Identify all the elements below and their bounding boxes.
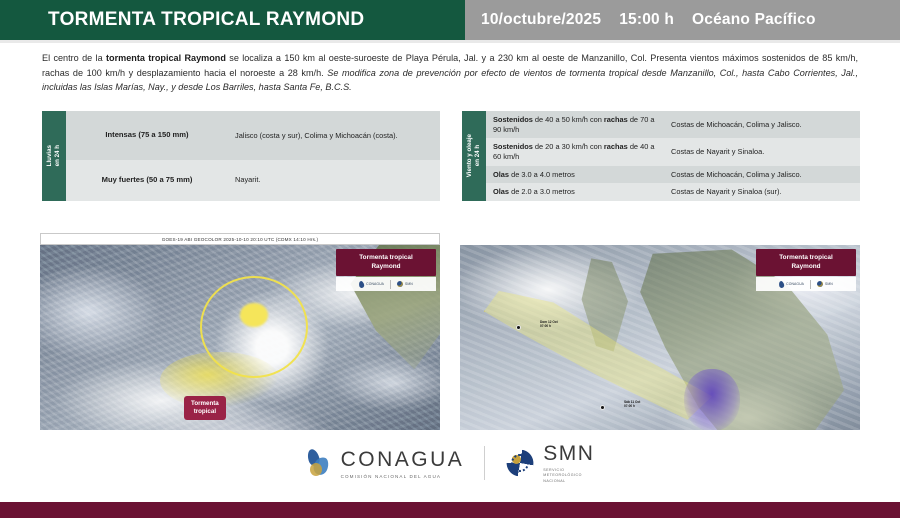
bulletin-page: TORMENTA TROPICAL RAYMOND 10/octubre/202… <box>0 0 900 518</box>
smn-swirl-icon <box>817 281 823 287</box>
satellite-badge-logos: CONAGUA SMN <box>336 277 436 291</box>
drop-shape-3 <box>310 463 322 476</box>
rain-table: Lluvias en 24 h Intensas (75 a 150 mm) J… <box>42 111 440 201</box>
forecast-badge-title: Tormenta tropical <box>759 254 853 263</box>
wave-areas-3: Costas de Nayarit y Sinaloa (sur). <box>664 183 860 201</box>
smn-wordmark: SMN SERVICIO METEOROLÓGICO NACIONAL <box>543 442 594 484</box>
conagua-mini-logo: CONAGUA <box>779 281 804 288</box>
rain-intensity-1: Muy fuertes (50 a 75 mm) <box>66 160 228 201</box>
satellite-badge-title: Tormenta tropical <box>339 254 433 263</box>
header-bar: TORMENTA TROPICAL RAYMOND 10/octubre/202… <box>0 0 900 40</box>
smn-swirl-icon <box>505 448 535 478</box>
conagua-name: CONAGUA <box>341 448 465 472</box>
footer-logos: CONAGUA COMISIÓN NACIONAL DEL AGUA SMN S… <box>0 442 900 484</box>
smn-subtitle: SERVICIO METEOROLÓGICO NACIONAL <box>543 468 594 484</box>
table-row: Sostenidos de 40 a 50 km/h con rachas de… <box>486 111 860 138</box>
footer-divider <box>484 446 485 480</box>
wind-label2-1: rachas <box>604 142 628 151</box>
track-point-label-0: Dom 12 Oct 07:00 h <box>540 320 558 328</box>
wind-areas-1: Costas de Nayarit y Sinaloa. <box>664 138 860 165</box>
smn-mini-label: SMN <box>825 282 833 286</box>
wind-condition-0: Sostenidos de 40 a 50 km/h con rachas de… <box>486 111 664 138</box>
rain-table-vertical-header: Lluvias en 24 h <box>42 111 66 201</box>
wind-wave-table: Viento y oleaje en 24 h Sostenidos de 40… <box>462 111 860 201</box>
wave-areas-2: Costas de Michoacán, Colima y Jalisco. <box>664 166 860 184</box>
rain-areas-0: Jalisco (costa y sur), Colima y Michoacá… <box>228 111 440 160</box>
summary-storm-name: tormenta tropical Raymond <box>106 53 226 63</box>
track-point-0[interactable] <box>516 325 521 330</box>
wave-label-3: Olas <box>493 187 509 196</box>
wind-detail-0: de 40 a 50 km/h con <box>533 115 604 124</box>
header-meta: 10/octubre/2025 15:00 h Océano Pacífico <box>465 0 900 40</box>
smn-mini-label: SMN <box>405 282 413 286</box>
water-drop-icon <box>358 280 364 288</box>
wind-label-1: Sostenidos <box>493 142 533 151</box>
table-row: Olas de 2.0 a 3.0 metros Costas de Nayar… <box>486 183 860 201</box>
water-drop-icon <box>778 280 784 288</box>
conagua-water-drop-icon <box>306 448 332 478</box>
table-row: Intensas (75 a 150 mm) Jalisco (costa y … <box>66 111 440 160</box>
wave-detail-3: de 2.0 a 3.0 metros <box>509 187 575 196</box>
bulletin-time: 15:00 h <box>619 11 674 29</box>
smn-mini-logo: SMN <box>397 281 413 287</box>
smn-swirl-icon <box>397 281 403 287</box>
table-row: Olas de 3.0 a 4.0 metros Costas de Micho… <box>486 166 860 184</box>
satellite-badge-subtitle: Raymond <box>339 263 433 272</box>
wave-condition-2: Olas de 3.0 a 4.0 metros <box>486 166 664 184</box>
page-title: TORMENTA TROPICAL RAYMOND <box>0 0 465 40</box>
summary-paragraph: El centro de la tormenta tropical Raymon… <box>42 51 858 95</box>
storm-eye-ring <box>200 276 308 378</box>
conagua-mini-label: CONAGUA <box>786 282 804 286</box>
track-point-label-1: Sáb 11 Oct 07:00 h <box>624 400 640 408</box>
conagua-wordmark: CONAGUA COMISIÓN NACIONAL DEL AGUA <box>341 448 465 479</box>
wave-condition-3: Olas de 2.0 a 3.0 metros <box>486 183 664 201</box>
wind-table-vertical-header: Viento y oleaje en 24 h <box>462 111 486 201</box>
bottom-accent-bar <box>0 502 900 518</box>
wind-label-0: Sostenidos <box>493 115 533 124</box>
wave-detail-2: de 3.0 a 4.0 metros <box>509 170 575 179</box>
rain-table-vertical-header-label: Lluvias en 24 h <box>46 145 62 166</box>
content-area: El centro de la tormenta tropical Raymon… <box>0 43 900 443</box>
bulletin-date: 10/octubre/2025 <box>481 11 601 29</box>
wind-table-vertical-header-label: Viento y oleaje en 24 h <box>466 134 482 177</box>
wind-table-grid: Sostenidos de 40 a 50 km/h con rachas de… <box>486 111 860 201</box>
wind-detail-1: de 20 a 30 km/h con <box>533 142 604 151</box>
bulletin-basin: Océano Pacífico <box>692 11 816 29</box>
smn-logo: SMN SERVICIO METEOROLÓGICO NACIONAL <box>505 442 594 484</box>
conagua-subtitle: COMISIÓN NACIONAL DEL AGUA <box>341 474 465 479</box>
conagua-mini-logo: CONAGUA <box>359 281 384 288</box>
wind-condition-1: Sostenidos de 20 a 30 km/h con rachas de… <box>486 138 664 165</box>
rain-table-grid: Intensas (75 a 150 mm) Jalisco (costa y … <box>66 111 440 201</box>
satellite-timestamp: GOES-19 ABI GEOCOLOR 2025-10-10 20:10 UT… <box>40 233 440 245</box>
rain-intensity-0: Intensas (75 a 150 mm) <box>66 111 228 160</box>
wind-areas-0: Costas de Michoacán, Colima y Jalisco. <box>664 111 860 138</box>
table-row: Sostenidos de 20 a 30 km/h con rachas de… <box>486 138 860 165</box>
forecast-storm-badge: Tormenta tropical Raymond <box>756 249 856 276</box>
storm-convection-blob <box>684 369 740 431</box>
summary-part1: El centro de la <box>42 53 106 63</box>
satellite-storm-badge: Tormenta tropical Raymond <box>336 249 436 276</box>
track-point-1[interactable] <box>600 405 605 410</box>
forecast-badge-subtitle: Raymond <box>759 263 853 272</box>
wave-label-2: Olas <box>493 170 509 179</box>
conagua-logo: CONAGUA COMISIÓN NACIONAL DEL AGUA <box>306 448 465 479</box>
logo-divider <box>390 280 391 289</box>
forecast-badge-logos: CONAGUA SMN <box>756 277 856 291</box>
table-row: Muy fuertes (50 a 75 mm) Nayarit. <box>66 160 440 201</box>
smn-mini-logo: SMN <box>817 281 833 287</box>
tables-row: Lluvias en 24 h Intensas (75 a 150 mm) J… <box>0 111 900 201</box>
storm-marker-label: Tormenta tropical <box>184 396 226 420</box>
logo-divider <box>810 280 811 289</box>
wind-label2-0: rachas <box>604 115 628 124</box>
storm-eye-core <box>240 303 268 327</box>
footer: CONAGUA COMISIÓN NACIONAL DEL AGUA SMN S… <box>0 430 900 518</box>
rain-areas-1: Nayarit. <box>228 160 440 201</box>
conagua-mini-label: CONAGUA <box>366 282 384 286</box>
smn-name: SMN <box>543 442 594 466</box>
